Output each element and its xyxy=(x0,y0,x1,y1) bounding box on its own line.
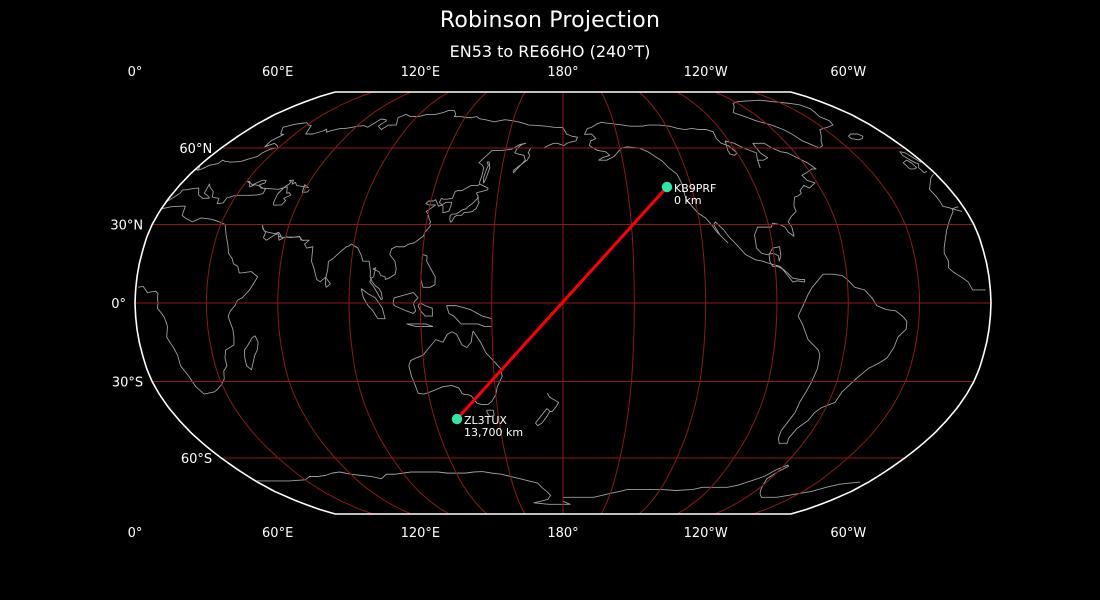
coastline-path xyxy=(535,393,558,425)
lat-tick-label: 0° xyxy=(111,297,126,312)
coastline-path xyxy=(244,336,258,370)
lon-tick-top: 120°W xyxy=(684,65,728,80)
marker-dot-icon[interactable] xyxy=(662,182,672,192)
latitude-tick-labels: 60°N30°N0°30°S60°S xyxy=(110,142,212,467)
coastline-path xyxy=(262,127,577,299)
coastline-path xyxy=(848,134,862,140)
lon-tick-bottom: 60°E xyxy=(262,526,293,541)
lon-tick-bottom: 120°W xyxy=(684,526,728,541)
lon-tick-bottom: 120°E xyxy=(401,526,441,541)
coastline-path xyxy=(138,206,257,394)
coastline-path xyxy=(929,189,958,208)
lat-tick-label: 30°S xyxy=(112,375,143,390)
lat-tick-label: 60°S xyxy=(181,452,212,467)
marker-dot-icon[interactable] xyxy=(452,414,462,424)
lon-tick-top: 0° xyxy=(128,65,143,80)
coastline-path xyxy=(903,160,916,169)
lon-tick-bottom: 60°W xyxy=(830,526,866,541)
coastline-path xyxy=(450,184,488,222)
coastline-path xyxy=(563,497,570,504)
map-canvas[interactable]: KB9PRF0 kmZL3TUX13,700 km 60°E60°E120°E1… xyxy=(0,0,1100,600)
coastline-path xyxy=(409,331,502,404)
station-marker-zl3tux[interactable]: ZL3TUX13,700 km xyxy=(452,414,523,439)
coastline-path xyxy=(325,277,330,287)
lon-tick-top: 60°E xyxy=(262,65,293,80)
coastline-path xyxy=(952,209,962,212)
robinson-projection-svg[interactable]: KB9PRF0 kmZL3TUX13,700 km 60°E60°E120°E1… xyxy=(0,0,1100,600)
station-distance-label: 0 km xyxy=(674,194,702,207)
station-distance-label: 13,700 km xyxy=(464,426,523,439)
lon-tick-bottom: 0° xyxy=(128,526,143,541)
lon-tick-top: 120°E xyxy=(401,65,441,80)
lon-tick-bottom: 180° xyxy=(547,526,578,541)
lat-tick-label: 60°N xyxy=(179,142,212,157)
map-figure: Robinson Projection EN53 to RE66HO (240°… xyxy=(0,0,1100,600)
coastline-path xyxy=(484,162,490,183)
lon-tick-top: 180° xyxy=(547,65,578,80)
coastline-path xyxy=(421,255,435,288)
coastline-path xyxy=(929,174,933,189)
coastline-path xyxy=(447,306,492,327)
lon-tick-top: 60°W xyxy=(830,65,866,80)
coastline-path xyxy=(924,171,927,172)
coastline-path xyxy=(944,209,986,290)
coastline-path xyxy=(563,465,860,497)
lat-tick-label: 30°N xyxy=(110,219,143,234)
station-marker-kb9prf[interactable]: KB9PRF0 km xyxy=(662,182,717,207)
coastline-path xyxy=(407,324,433,327)
